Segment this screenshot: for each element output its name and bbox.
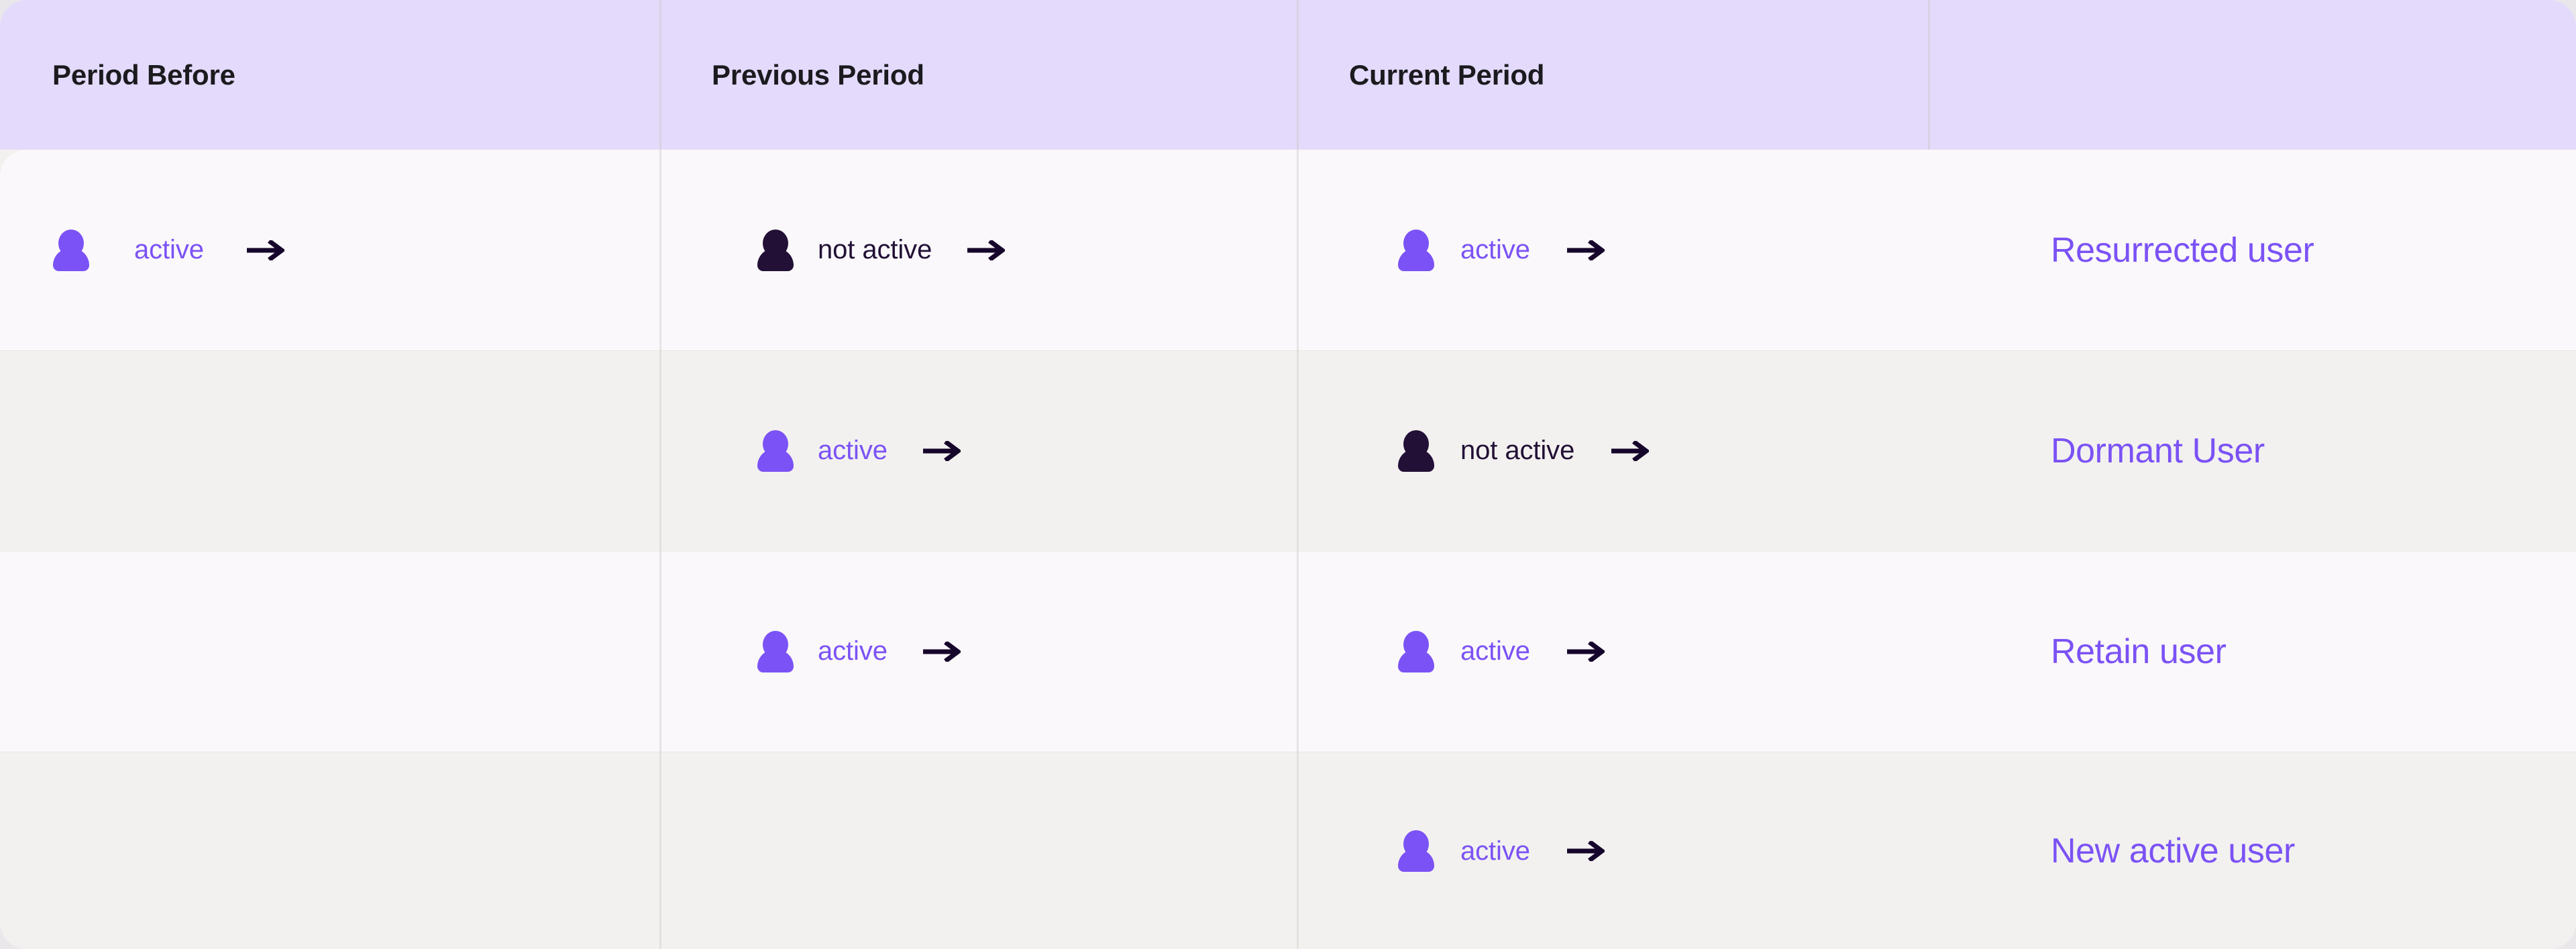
arrow-right-icon (923, 642, 961, 662)
state-group: active (1397, 631, 1605, 672)
column-header-period-before: Period Before (0, 0, 659, 150)
state-label: not active (1460, 436, 1574, 466)
cell-current-period: active (1297, 752, 1928, 949)
state-label: active (134, 235, 204, 265)
cell-previous-period (659, 752, 1297, 949)
state-label: active (1460, 636, 1530, 666)
outcome-label: Retain user (2051, 632, 2226, 672)
person-icon (1397, 430, 1435, 472)
person-icon (757, 230, 794, 271)
cell-current-period: active (1297, 551, 1928, 752)
table-row: active New active user (0, 752, 2576, 949)
cell-outcome: Retain user (1928, 551, 2576, 752)
person-icon (757, 631, 794, 672)
table-header-row: Period Before Previous Period Current Pe… (0, 0, 2576, 150)
column-header-previous-period: Previous Period (659, 0, 1297, 150)
person-icon (52, 230, 90, 271)
cell-period-before (0, 350, 659, 551)
state-label: active (818, 636, 888, 666)
cell-current-period: not active (1297, 350, 1928, 551)
cell-outcome: New active user (1928, 752, 2576, 949)
arrow-right-icon (1567, 841, 1605, 861)
state-group: active (1397, 230, 1605, 271)
column-header-label: Current Period (1349, 59, 1544, 91)
person-icon (1397, 230, 1435, 271)
state-group: not active (757, 230, 1005, 271)
state-group: active (757, 430, 961, 472)
table-body: active not active (0, 150, 2576, 949)
arrow-right-icon (967, 240, 1005, 260)
retention-state-table: Period Before Previous Period Current Pe… (0, 0, 2576, 949)
arrow-right-icon (1611, 441, 1649, 461)
state-label: active (1460, 836, 1530, 866)
state-group: active (757, 631, 961, 672)
arrow-right-icon (923, 441, 961, 461)
outcome-label: Dormant User (2051, 431, 2265, 471)
outcome-label: New active user (2051, 831, 2295, 871)
person-icon (1397, 631, 1435, 672)
cell-previous-period: active (659, 551, 1297, 752)
person-icon (1397, 830, 1435, 872)
column-header-label: Period Before (52, 59, 235, 91)
arrow-right-icon (1567, 240, 1605, 260)
column-header-label: Previous Period (712, 59, 924, 91)
table-row: active active (0, 551, 2576, 752)
state-group: active (52, 230, 284, 271)
arrow-right-icon (247, 240, 284, 260)
person-icon (757, 430, 794, 472)
state-label: active (1460, 235, 1530, 265)
column-header-current-period: Current Period (1297, 0, 1928, 150)
cell-outcome: Resurrected user (1928, 150, 2576, 350)
column-header-outcome (1928, 0, 2576, 150)
arrow-right-icon (1567, 642, 1605, 662)
state-group: active (1397, 830, 1605, 872)
table-row: active not active (0, 150, 2576, 350)
cell-period-before: active (0, 150, 659, 350)
state-group: not active (1397, 430, 1649, 472)
cell-current-period: active (1297, 150, 1928, 350)
outcome-label: Resurrected user (2051, 230, 2314, 270)
state-label: active (818, 436, 888, 466)
state-label: not active (818, 235, 932, 265)
cell-period-before (0, 551, 659, 752)
cell-period-before (0, 752, 659, 949)
cell-previous-period: active (659, 350, 1297, 551)
cell-previous-period: not active (659, 150, 1297, 350)
table-row: active not active (0, 350, 2576, 551)
cell-outcome: Dormant User (1928, 350, 2576, 551)
